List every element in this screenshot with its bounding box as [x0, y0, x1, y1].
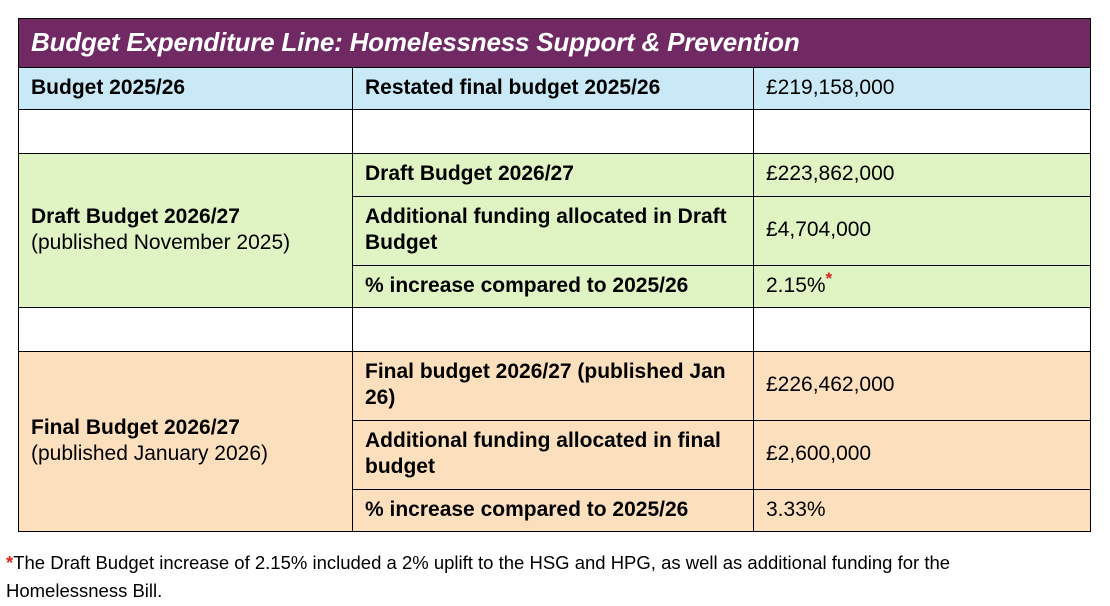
row-value: £2,600,000	[766, 442, 871, 465]
row-label: Draft Budget 2026/27	[365, 162, 574, 185]
spacer-cell	[19, 110, 353, 154]
table-row: Budget 2025/26 Restated final budget 202…	[19, 67, 1091, 109]
category-cell-draft: Draft Budget 2026/27 (published November…	[19, 154, 353, 308]
category-cell-final: Final Budget 2026/27 (published January …	[19, 352, 353, 532]
spacer-cell	[754, 308, 1091, 352]
row-label: Final budget 2026/27 (published Jan 26)	[365, 360, 726, 409]
row-label: Additional funding allocated in final bu…	[365, 429, 721, 478]
row-label-cell: Draft Budget 2026/27	[353, 154, 754, 196]
row-value-cell: £219,158,000	[754, 67, 1091, 109]
category-label: Final Budget 2026/27	[31, 416, 240, 439]
category-sublabel: (published January 2026)	[31, 441, 340, 467]
row-label-cell: % increase compared to 2025/26	[353, 265, 754, 307]
row-label-cell: Final budget 2026/27 (published Jan 26)	[353, 352, 754, 421]
footnote-marker-icon: *	[826, 269, 833, 288]
row-value-cell: £223,862,000	[754, 154, 1091, 196]
category-sublabel: (published November 2025)	[31, 230, 340, 256]
row-value: £219,158,000	[766, 76, 894, 99]
category-label: Budget 2025/26	[31, 76, 185, 99]
spacer-cell	[19, 308, 353, 352]
row-label: Additional funding allocated in Draft Bu…	[365, 205, 727, 254]
row-value-cell: £226,462,000	[754, 352, 1091, 421]
page-root: Budget Expenditure Line: Homelessness Su…	[0, 0, 1110, 606]
category-label: Draft Budget 2026/27	[31, 205, 240, 228]
row-value: 2.15%	[766, 274, 826, 297]
row-value-cell: 2.15%*	[754, 265, 1091, 307]
budget-table: Budget Expenditure Line: Homelessness Su…	[18, 18, 1091, 532]
budget-table-container: Budget Expenditure Line: Homelessness Su…	[18, 18, 1090, 532]
footnote: *The Draft Budget increase of 2.15% incl…	[6, 549, 1016, 605]
category-cell-current: Budget 2025/26	[19, 67, 353, 109]
footnote-text: The Draft Budget increase of 2.15% inclu…	[6, 552, 950, 601]
row-value-cell: £2,600,000	[754, 420, 1091, 489]
row-value-cell: £4,704,000	[754, 196, 1091, 265]
page-title: Budget Expenditure Line: Homelessness Su…	[31, 27, 800, 57]
row-value-cell: 3.33%	[754, 489, 1091, 531]
row-label: Restated final budget 2025/26	[365, 76, 660, 99]
table-title-cell: Budget Expenditure Line: Homelessness Su…	[19, 19, 1091, 68]
spacer-cell	[754, 110, 1091, 154]
table-title-row: Budget Expenditure Line: Homelessness Su…	[19, 19, 1091, 68]
row-value: 3.33%	[766, 498, 826, 521]
row-value: £4,704,000	[766, 218, 871, 241]
row-label-cell: % increase compared to 2025/26	[353, 489, 754, 531]
row-value: £223,862,000	[766, 162, 894, 185]
row-label-cell: Restated final budget 2025/26	[353, 67, 754, 109]
table-row: Final Budget 2026/27 (published January …	[19, 352, 1091, 421]
spacer-row	[19, 308, 1091, 352]
row-value: £226,462,000	[766, 373, 894, 396]
spacer-cell	[353, 110, 754, 154]
spacer-row	[19, 110, 1091, 154]
row-label-cell: Additional funding allocated in Draft Bu…	[353, 196, 754, 265]
row-label: % increase compared to 2025/26	[365, 274, 688, 297]
table-row: Draft Budget 2026/27 (published November…	[19, 154, 1091, 196]
spacer-cell	[353, 308, 754, 352]
row-label-cell: Additional funding allocated in final bu…	[353, 420, 754, 489]
row-label: % increase compared to 2025/26	[365, 498, 688, 521]
